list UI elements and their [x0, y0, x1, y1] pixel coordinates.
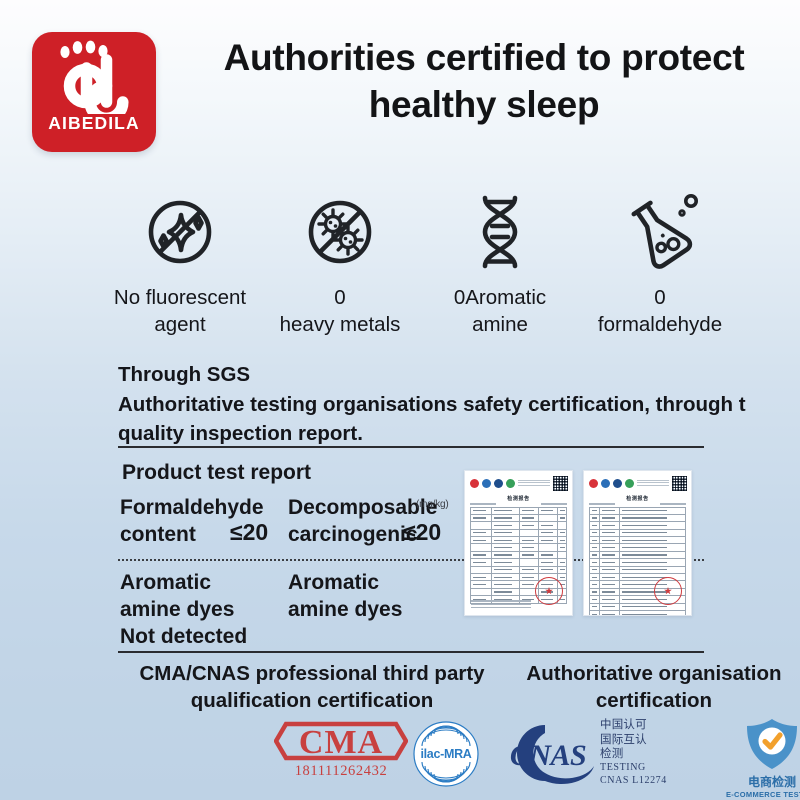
cnas-logo-icon: CNAS	[484, 722, 606, 784]
ilac-mra-badge: ilac-MRA	[412, 720, 486, 793]
feature-item-no-fluorescent: No fluorescent agent	[104, 186, 256, 338]
certificate-header-text	[637, 480, 669, 488]
cnas-text-line2: 国际互认	[600, 733, 720, 748]
cma-number: 181111262432	[272, 763, 410, 780]
certificate-header	[465, 471, 572, 493]
divider-top	[118, 446, 704, 448]
cnas-badge: CNAS	[484, 722, 610, 789]
ilac-logo-icon	[482, 479, 491, 488]
cnas-accreditation-text: 中国认可 国际互认 检测 TESTING CNAS L12274	[600, 718, 720, 788]
shield-check-icon	[739, 716, 800, 774]
cnas-text-line1: 中国认可	[600, 718, 720, 733]
cnas-logo-icon	[494, 479, 503, 488]
quality-logo-icon	[625, 479, 634, 488]
cma-logo-icon: CMA	[274, 720, 408, 762]
feature-list: No fluorescent agent 0	[104, 186, 736, 338]
ilac-logo-icon	[601, 479, 610, 488]
svg-text:CNAS: CNAS	[510, 739, 586, 772]
svg-text:ilac-MRA: ilac-MRA	[420, 747, 471, 761]
feature-label: 0 formaldehyde	[584, 284, 736, 338]
cnas-text-line4: TESTING	[600, 762, 720, 775]
red-seal-stamp	[535, 577, 563, 605]
sgs-paragraph: Through SGS Authoritative testing organi…	[118, 360, 800, 449]
certificate-heading: 检测报告	[465, 495, 572, 502]
certificate-image-1[interactable]: 检测报告	[464, 470, 573, 616]
qr-code-icon	[553, 476, 568, 491]
aromatic-amine-dyes-left: Aromatic amine dyes Not detected	[120, 570, 247, 651]
page-title: Authorities certified to protect healthy…	[176, 34, 792, 129]
qr-code-icon	[672, 476, 687, 491]
certificate-image-2[interactable]: 检测报告	[583, 470, 692, 616]
certificate-thumbnails: 检测报告 检测报告	[464, 470, 692, 614]
feature-label: 0Aromatic amine	[424, 284, 576, 338]
decomposable-carcinogenic-unit: (mg/kg)	[416, 499, 449, 510]
ecommerce-testing-badge: 电商检测 E-COMMERCE TESTING	[718, 716, 800, 799]
certificate-header	[584, 471, 691, 493]
brand-name: AIBEDILA	[48, 115, 139, 133]
certificate-header-text	[518, 480, 550, 488]
paw-ab-monogram-icon	[46, 40, 142, 114]
cma-cnas-caption: CMA/CNAS professional third party qualif…	[112, 660, 504, 714]
feature-label: No fluorescent agent	[104, 284, 256, 338]
ecommerce-label-cn: 电商检测	[718, 773, 800, 790]
cma-logo-icon	[589, 479, 598, 488]
header: AIBEDILA Authorities certified to protec…	[0, 0, 800, 172]
cnas-text-line5: CNAS L12274	[600, 775, 720, 788]
feature-item-formaldehyde: 0 formaldehyde	[584, 186, 736, 338]
feature-label: 0 heavy metals	[264, 284, 416, 338]
cnas-text-line3: 检测	[600, 747, 720, 762]
ilac-mra-logo-icon: ilac-MRA	[412, 720, 480, 788]
dna-helix-icon	[424, 186, 576, 278]
quality-logo-icon	[506, 479, 515, 488]
certification-badges: CMA 181111262432 ilac-MRA CNAS 中国认可 国际互认…	[112, 714, 800, 800]
certificate-footnotes	[471, 600, 531, 610]
certification-captions: CMA/CNAS professional third party qualif…	[112, 660, 800, 714]
flask-icon	[584, 186, 736, 278]
certificate-heading: 检测报告	[584, 495, 691, 502]
aromatic-amine-dyes-right: Aromatic amine dyes	[288, 570, 402, 624]
no-virus-heavy-metals-icon	[264, 186, 416, 278]
feature-item-heavy-metals: 0 heavy metals	[264, 186, 416, 338]
no-fluorescent-agent-icon	[104, 186, 256, 278]
cnas-logo-icon	[613, 479, 622, 488]
divider-bottom	[118, 651, 704, 653]
brand-logo: AIBEDILA	[32, 32, 156, 152]
red-seal-stamp	[654, 577, 682, 605]
ecommerce-label-en: E-COMMERCE TESTING	[718, 790, 800, 799]
formaldehyde-content-value: ≤20	[230, 519, 268, 546]
decomposable-carcinogenic-value: ≤20	[403, 519, 441, 546]
authoritative-org-caption: Authoritative organisation certification	[504, 660, 800, 714]
svg-text:CMA: CMA	[299, 724, 383, 761]
cma-badge: CMA 181111262432	[272, 720, 410, 780]
feature-item-aromatic-amine: 0Aromatic amine	[424, 186, 576, 338]
product-test-report-title: Product test report	[122, 461, 311, 485]
cma-logo-icon	[470, 479, 479, 488]
